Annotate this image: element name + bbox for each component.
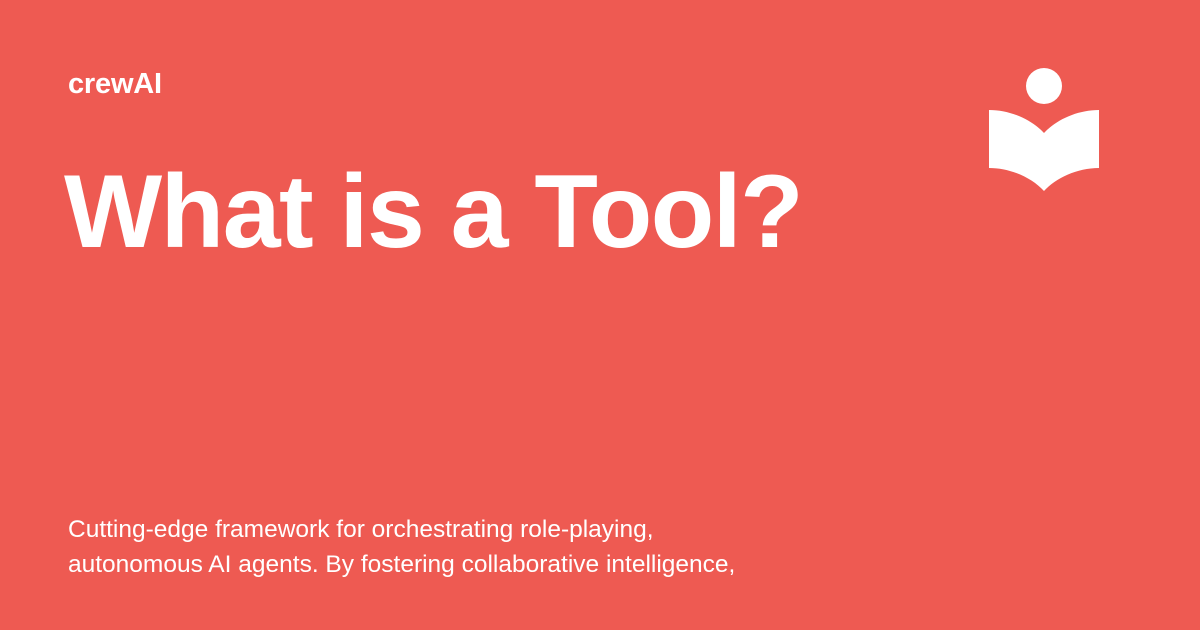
page-title: What is a Tool? xyxy=(64,158,802,267)
book-right-page-shape xyxy=(1044,110,1099,191)
brand-logo-text: crewAI xyxy=(68,70,162,99)
description-line-2: autonomous AI agents. By fostering colla… xyxy=(68,547,888,582)
open-book-reader-icon xyxy=(984,60,1104,200)
book-left-page-shape xyxy=(989,110,1044,191)
page-description: Cutting-edge framework for orchestrating… xyxy=(68,512,888,582)
open-graph-card: crewAI What is a Tool? Cutting-edge fram… xyxy=(0,0,1200,630)
reader-head-shape xyxy=(1026,68,1062,104)
description-line-1: Cutting-edge framework for orchestrating… xyxy=(68,512,888,547)
